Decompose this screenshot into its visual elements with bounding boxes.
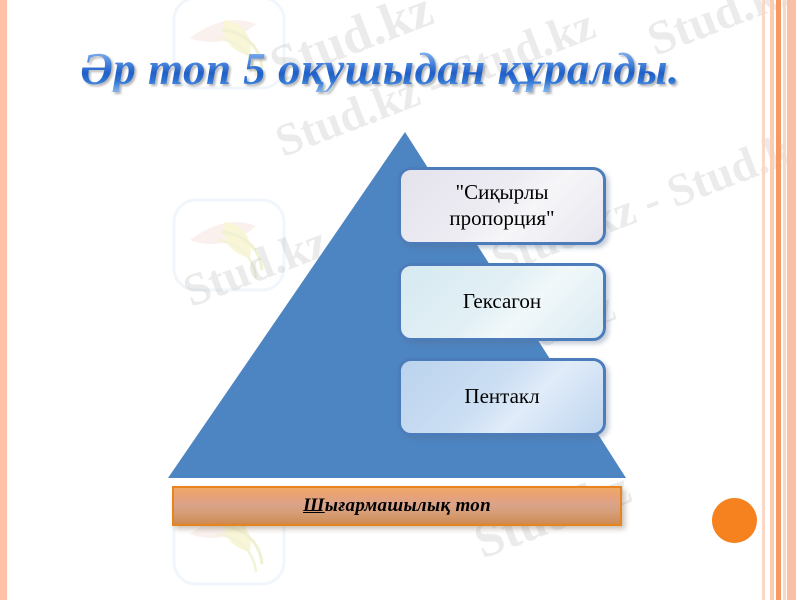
- pyramid-level-1-label: "Сиқырлы пропорция": [401, 180, 603, 231]
- pyramid-level-2[interactable]: Гексагон: [398, 263, 606, 341]
- right-edge-stripe-2: [770, 0, 774, 600]
- pyramid-level-3[interactable]: Пентакл: [398, 358, 606, 436]
- right-edge-stripe-4: [783, 0, 786, 600]
- slide-canvas: Stud.kz Stud.kz - Stud.kz Stud.kz - Stud…: [0, 0, 796, 600]
- base-bar-label: Шығармашылық топ: [303, 495, 491, 517]
- left-edge-stripe: [0, 0, 7, 600]
- pyramid-level-2-label: Гексагон: [463, 289, 541, 315]
- slide-title: Әр топ 5 оқушыдан құралды.: [0, 47, 760, 92]
- base-bar[interactable]: Шығармашылық топ: [172, 486, 622, 526]
- orange-dot-decoration: [712, 498, 757, 543]
- pyramid-level-1[interactable]: "Сиқырлы пропорция": [398, 167, 606, 245]
- right-edge-stripe-5: [787, 0, 796, 600]
- pyramid-level-3-label: Пентакл: [464, 384, 539, 410]
- right-edge-stripe-1: [762, 0, 765, 600]
- right-edge-stripe-3: [776, 0, 781, 600]
